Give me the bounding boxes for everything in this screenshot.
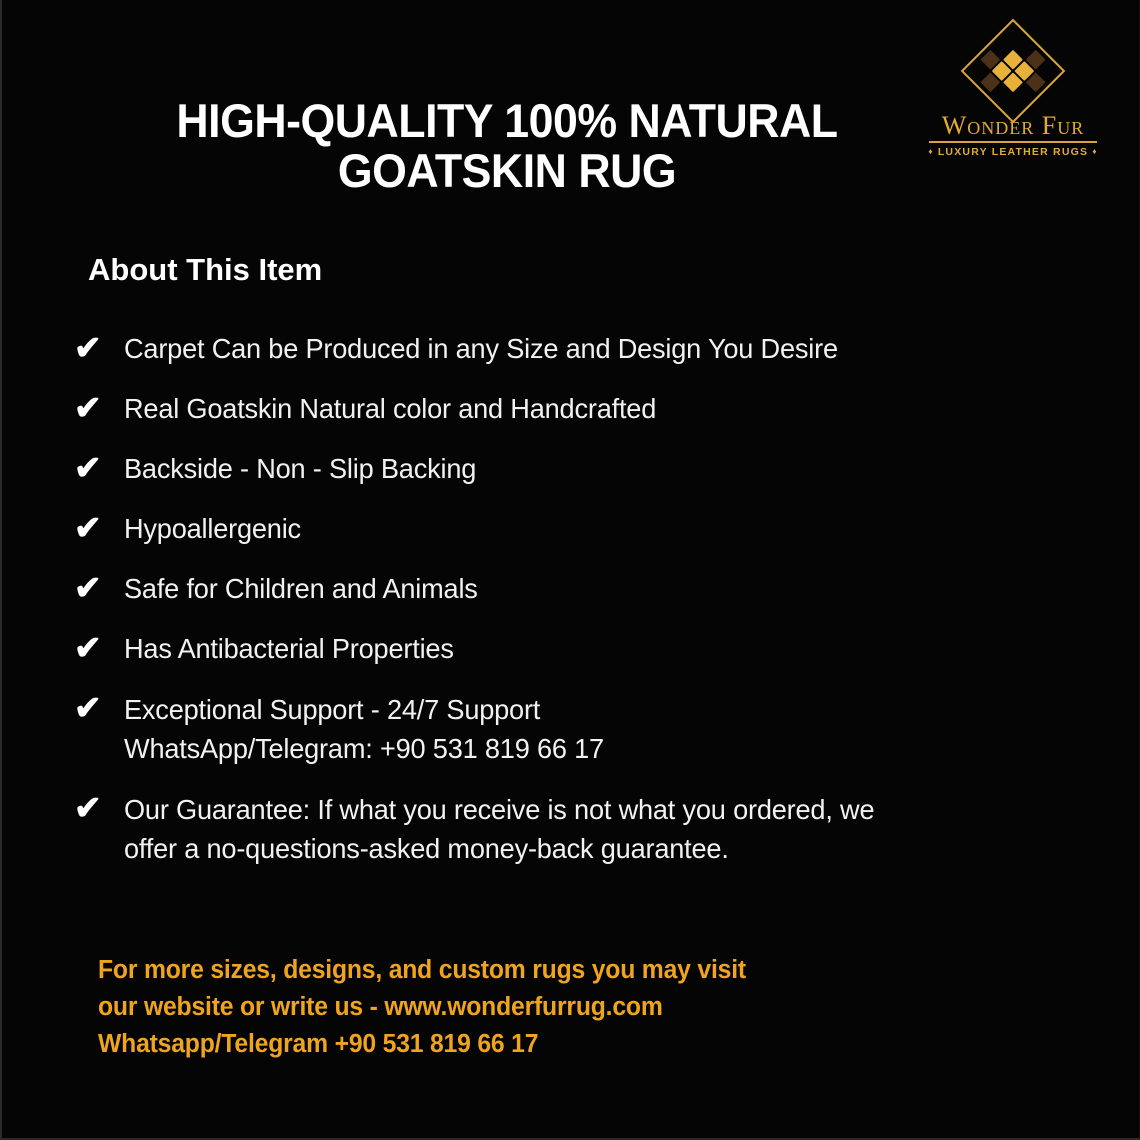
list-item-label: Backside - Non - Slip Backing — [124, 450, 476, 488]
diamond-bullet-right-icon: ♦ — [1092, 147, 1097, 156]
diamond-bullet-left-icon: ♦ — [928, 147, 933, 156]
list-item: ✔ Has Antibacterial Properties — [74, 630, 1084, 668]
list-item: ✔ Hypoallergenic — [74, 510, 1084, 548]
list-item-support: ✔ Exceptional Support - 24/7 Support Wha… — [74, 690, 1084, 768]
list-item: ✔ Safe for Children and Animals — [74, 570, 1084, 608]
check-icon: ✔ — [74, 690, 124, 725]
contact-footer: For more sizes, designs, and custom rugs… — [98, 952, 1049, 1063]
list-item-label: Real Goatskin Natural color and Handcraf… — [124, 390, 656, 428]
check-icon: ✔ — [74, 330, 124, 365]
check-icon: ✔ — [74, 570, 124, 605]
diamond-checker-icon — [961, 19, 1066, 124]
check-icon: ✔ — [74, 510, 124, 545]
product-info-card: Wonder Fur ♦ LUXURY LEATHER RUGS ♦ HIGH-… — [0, 0, 1140, 1140]
brand-tagline-text: LUXURY LEATHER RUGS — [938, 146, 1088, 158]
page-title: HIGH-QUALITY 100% NATURAL GOATSKIN RUG — [113, 96, 902, 196]
list-item-label: Has Antibacterial Properties — [124, 630, 454, 668]
about-heading: About This Item — [88, 252, 322, 288]
check-icon: ✔ — [74, 450, 124, 485]
list-item-label: Safe for Children and Animals — [124, 570, 478, 608]
feature-list: ✔ Carpet Can be Produced in any Size and… — [74, 330, 1084, 890]
list-item: ✔ Carpet Can be Produced in any Size and… — [74, 330, 1084, 368]
check-icon: ✔ — [74, 790, 124, 825]
list-item-guarantee: ✔ Our Guarantee: If what you receive is … — [74, 790, 1084, 868]
list-item: ✔ Backside - Non - Slip Backing — [74, 450, 1084, 488]
brand-logo: Wonder Fur ♦ LUXURY LEATHER RUGS ♦ — [923, 34, 1103, 158]
list-item-label: Carpet Can be Produced in any Size and D… — [124, 330, 838, 368]
logo-divider — [929, 141, 1097, 143]
check-icon: ✔ — [74, 630, 124, 665]
check-icon: ✔ — [74, 390, 124, 425]
list-item-label: Hypoallergenic — [124, 510, 301, 548]
list-item-label: Exceptional Support - 24/7 Support Whats… — [124, 690, 604, 768]
brand-tagline: ♦ LUXURY LEATHER RUGS ♦ — [923, 146, 1103, 158]
list-item: ✔ Real Goatskin Natural color and Handcr… — [74, 390, 1084, 428]
list-item-label: Our Guarantee: If what you receive is no… — [124, 790, 874, 868]
